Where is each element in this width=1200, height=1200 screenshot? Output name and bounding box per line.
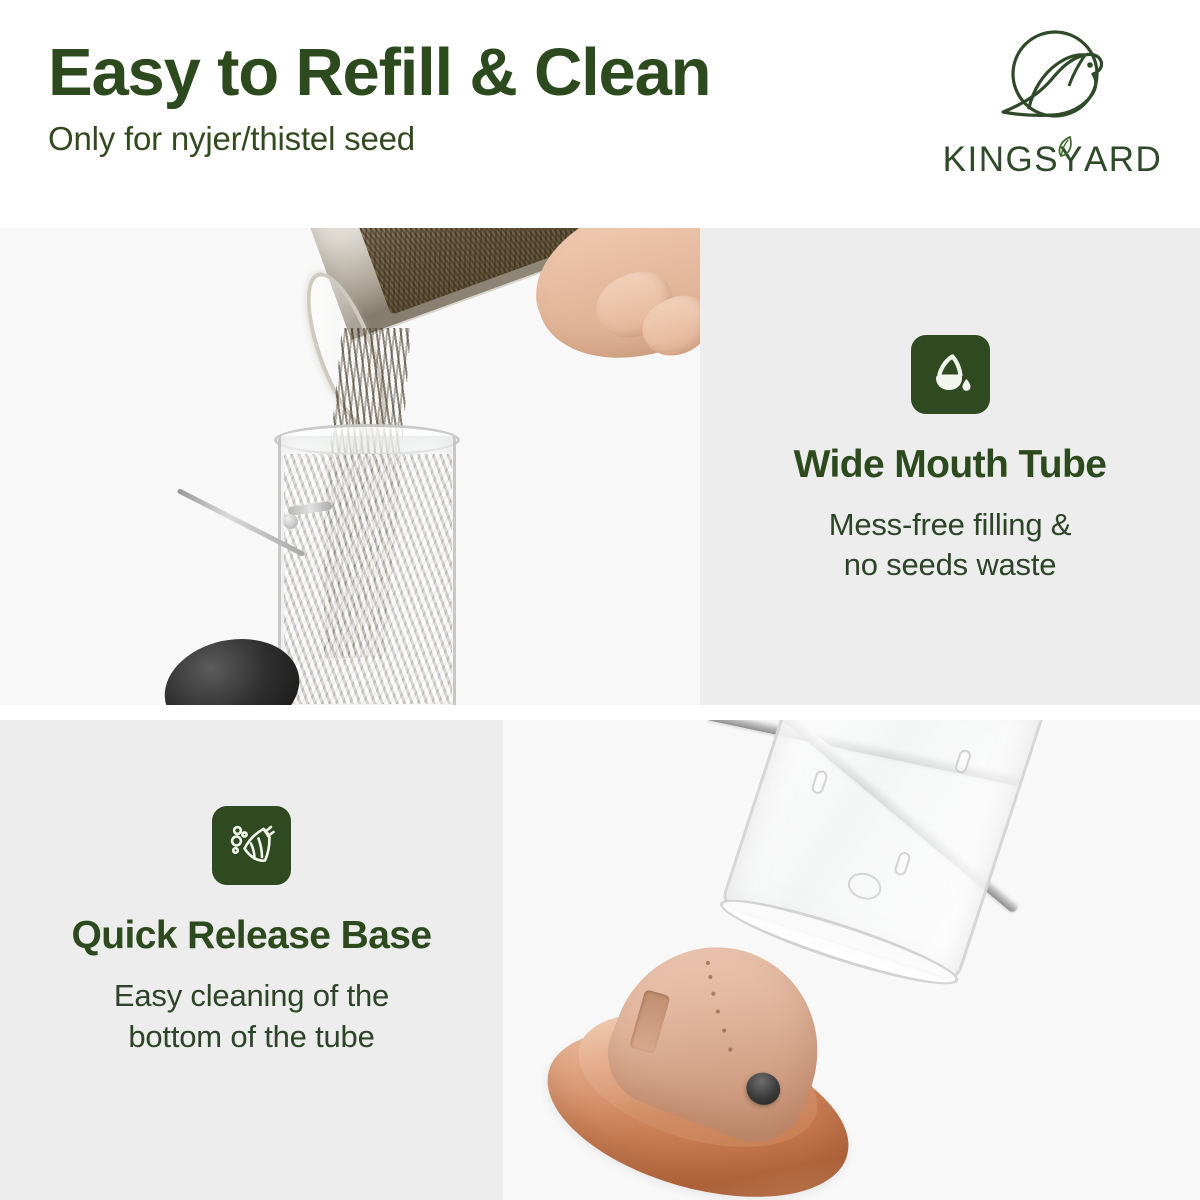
feature-title: Quick Release Base [72, 915, 432, 958]
logo-wordmark-y-wrap: Y [1059, 140, 1084, 180]
feature-description: Mess-free filling & no seeds waste [829, 505, 1072, 587]
feature-description-line2: no seeds waste [844, 547, 1057, 582]
feed-port-round [844, 869, 884, 904]
page-title: Easy to Refill & Clean [48, 38, 710, 108]
feature-row-bottom: Quick Release Base Easy cleaning of the … [0, 720, 1200, 1200]
feature-description-line1: Mess-free filling & [829, 507, 1072, 542]
header-text-group: Easy to Refill & Clean Only for nyjer/th… [48, 38, 710, 158]
brand-logo: KINGS Y ARD [945, 22, 1160, 197]
feeder-tube [719, 720, 1046, 984]
broom-bubbles-icon [227, 821, 277, 871]
logo-wordmark-post: ARD [1084, 140, 1162, 180]
feature-description: Easy cleaning of the bottom of the tube [114, 976, 389, 1058]
feed-port [893, 851, 912, 878]
logo-wordmark: KINGS Y ARD [943, 140, 1163, 180]
feed-port [810, 769, 829, 796]
feature-content: Wide Mouth Tube Mess-free filling & no s… [700, 228, 1200, 705]
header-banner: Easy to Refill & Clean Only for nyjer/th… [0, 0, 1200, 228]
pouring-vessel-drop-icon-tile [911, 335, 990, 414]
seed-pouring-illustration [0, 228, 700, 705]
feature-description-line2: bottom of the tube [128, 1019, 374, 1054]
feature-title: Wide Mouth Tube [794, 444, 1107, 487]
feature-description-line1: Easy cleaning of the [114, 978, 389, 1013]
seeds-inside-feeder-tube [284, 454, 452, 704]
broom-bubbles-icon-tile [212, 806, 291, 885]
feature-wide-mouth-tube: Wide Mouth Tube Mess-free filling & no s… [700, 228, 1200, 705]
feature-row-top: Wide Mouth Tube Mess-free filling & no s… [0, 228, 1200, 705]
tube-base-illustration [503, 720, 1200, 1200]
bird-in-circle-icon [989, 22, 1117, 142]
perch-knob [283, 514, 298, 529]
feature-content: Quick Release Base Easy cleaning of the … [0, 720, 503, 1200]
logo-wordmark-pre: KINGS [943, 140, 1059, 180]
feed-port [954, 748, 973, 775]
base-vent-dots [657, 955, 788, 1083]
tube-base-separation-photo [503, 720, 1200, 1200]
base-release-knob [742, 1068, 785, 1110]
feature-quick-release-base: Quick Release Base Easy cleaning of the … [0, 720, 503, 1200]
seed-pouring-photo [0, 228, 700, 705]
leaf-icon [1056, 136, 1076, 162]
pouring-vessel-drop-icon [925, 349, 975, 399]
page-subtitle: Only for nyjer/thistel seed [48, 120, 710, 158]
